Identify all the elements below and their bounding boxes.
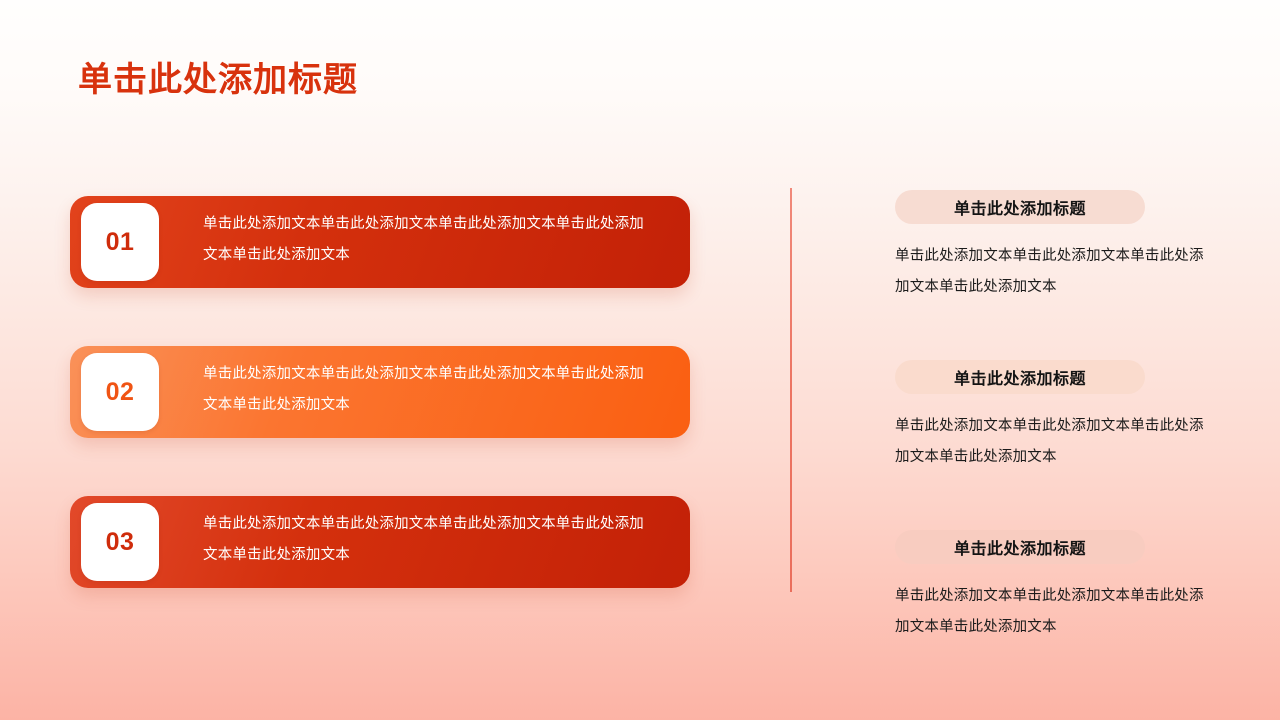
card-body-text-02[interactable]: 单击此处添加文本单击此处添加文本单击此处添加文本单击此处添加文本单击此处添加文本 bbox=[203, 359, 653, 421]
card-body-text-01[interactable]: 单击此处添加文本单击此处添加文本单击此处添加文本单击此处添加文本单击此处添加文本 bbox=[203, 209, 653, 271]
detail-title-pill-2[interactable]: 单击此处添加标题 bbox=[895, 360, 1145, 394]
number-badge-label: 03 bbox=[106, 528, 135, 557]
number-badge-label: 01 bbox=[106, 228, 135, 257]
detail-body-text-2[interactable]: 单击此处添加文本单击此处添加文本单击此处添加文本单击此处添加文本 bbox=[895, 411, 1207, 473]
number-badge-01: 01 bbox=[81, 203, 159, 281]
detail-item-1: 单击此处添加标题 单击此处添加文本单击此处添加文本单击此处添加文本单击此处添加文… bbox=[895, 190, 1215, 303]
detail-title-pill-3[interactable]: 单击此处添加标题 bbox=[895, 530, 1145, 564]
number-badge-02: 02 bbox=[81, 353, 159, 431]
detail-item-2: 单击此处添加标题 单击此处添加文本单击此处添加文本单击此处添加文本单击此处添加文… bbox=[895, 360, 1215, 473]
number-badge-03: 03 bbox=[81, 503, 159, 581]
detail-body-text-1[interactable]: 单击此处添加文本单击此处添加文本单击此处添加文本单击此处添加文本 bbox=[895, 241, 1207, 303]
numbered-card-01[interactable]: 01 单击此处添加文本单击此处添加文本单击此处添加文本单击此处添加文本单击此处添… bbox=[70, 196, 690, 288]
slide-canvas: 单击此处添加标题 01 单击此处添加文本单击此处添加文本单击此处添加文本单击此处… bbox=[0, 0, 1280, 720]
detail-title-pill-1[interactable]: 单击此处添加标题 bbox=[895, 190, 1145, 224]
number-badge-label: 02 bbox=[106, 378, 135, 407]
detail-item-3: 单击此处添加标题 单击此处添加文本单击此处添加文本单击此处添加文本单击此处添加文… bbox=[895, 530, 1215, 643]
numbered-card-03[interactable]: 03 单击此处添加文本单击此处添加文本单击此处添加文本单击此处添加文本单击此处添… bbox=[70, 496, 690, 588]
detail-body-text-3[interactable]: 单击此处添加文本单击此处添加文本单击此处添加文本单击此处添加文本 bbox=[895, 581, 1207, 643]
card-body-text-03[interactable]: 单击此处添加文本单击此处添加文本单击此处添加文本单击此处添加文本单击此处添加文本 bbox=[203, 509, 653, 571]
vertical-divider bbox=[790, 188, 792, 592]
right-detail-column: 单击此处添加标题 单击此处添加文本单击此处添加文本单击此处添加文本单击此处添加文… bbox=[895, 190, 1215, 643]
numbered-card-02[interactable]: 02 单击此处添加文本单击此处添加文本单击此处添加文本单击此处添加文本单击此处添… bbox=[70, 346, 690, 438]
left-card-column: 01 单击此处添加文本单击此处添加文本单击此处添加文本单击此处添加文本单击此处添… bbox=[70, 196, 692, 588]
page-title[interactable]: 单击此处添加标题 bbox=[78, 57, 358, 103]
